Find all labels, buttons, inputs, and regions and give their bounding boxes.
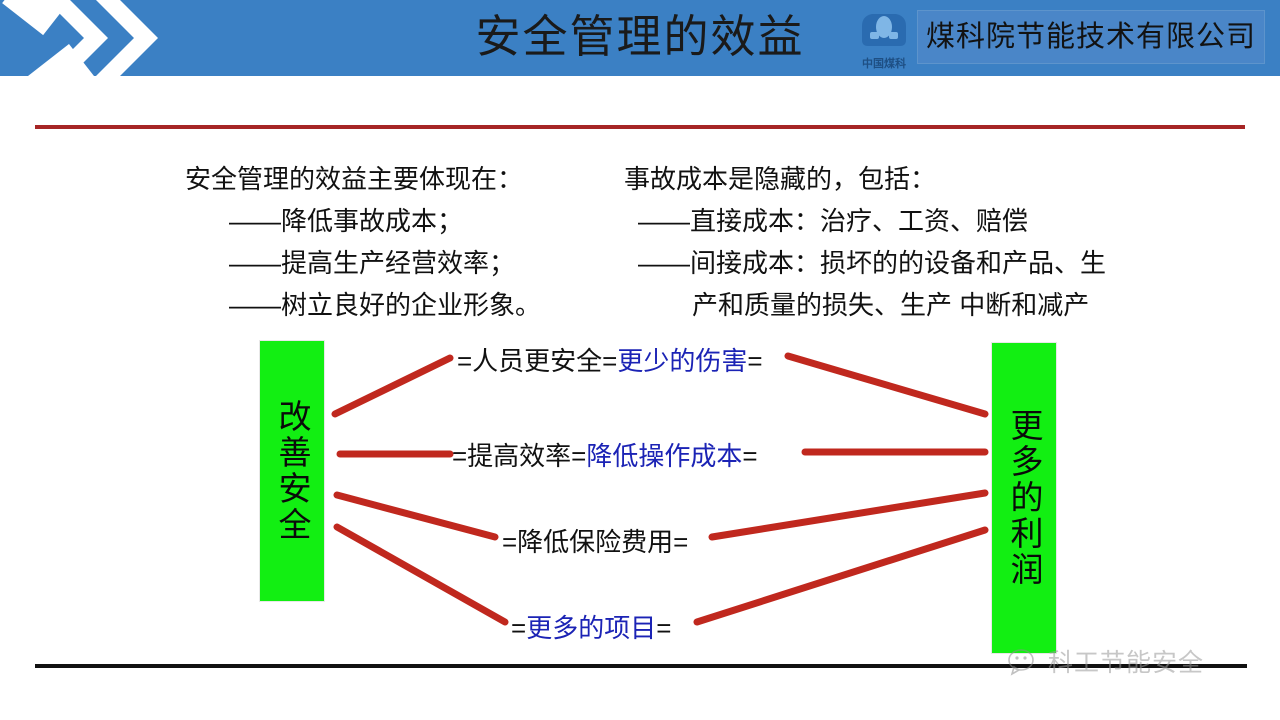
slide-header: 安全管理的效益 中国煤科 煤科院节能技术有限公司 xyxy=(0,0,1280,76)
slide-canvas: 安全管理的效益 中国煤科 煤科院节能技术有限公司 安全管理的效益主要体现在： —… xyxy=(0,0,1280,720)
company-name-text: 煤科院节能技术有限公司 xyxy=(926,20,1256,54)
china-coal-emblem-icon xyxy=(858,10,910,50)
connector-left-1 xyxy=(335,358,450,414)
left-text-column: 安全管理的效益主要体现在： ——降低事故成本； ——提高生产经营效率； ——树立… xyxy=(185,158,541,326)
connector-left-3 xyxy=(337,495,495,537)
diagram-row-label-2: =提高效率=降低操作成本= xyxy=(452,440,758,472)
double-chevron-right-icon-second xyxy=(86,0,172,76)
row2-prefix: =提高效率= xyxy=(452,441,586,471)
right-text-column: 事故成本是隐藏的，包括： ——直接成本：治疗、工资、赔偿 ——间接成本：损坏的的… xyxy=(624,158,1106,326)
row4-prefix: = xyxy=(511,613,526,643)
row4-highlight: 更多的项目 xyxy=(526,613,656,643)
row2-highlight: 降低操作成本 xyxy=(586,441,742,471)
diagram-row-label-4: =更多的项目= xyxy=(511,612,671,644)
watermark: 科工节能安全 xyxy=(1008,648,1204,678)
top-divider xyxy=(35,125,1245,129)
page-title: 安全管理的效益 xyxy=(430,5,850,69)
company-name-box: 煤科院节能技术有限公司 xyxy=(917,10,1265,64)
connector-right-3 xyxy=(712,493,985,537)
wechat-icon xyxy=(1008,648,1042,678)
left-heading: 安全管理的效益主要体现在： xyxy=(185,158,541,200)
row4-suffix: = xyxy=(656,613,671,643)
right-bullet-1: ——直接成本：治疗、工资、赔偿 xyxy=(624,200,1106,242)
connector-right-1 xyxy=(788,356,985,414)
benefit-flow-diagram: 改善安全 更多的利润 xyxy=(0,330,1280,660)
left-outcome-box: 改善安全 xyxy=(259,340,325,602)
diagram-row-label-3: =降低保险费用= xyxy=(502,526,688,558)
brand-logo: 中国煤科 xyxy=(848,10,920,72)
row1-highlight: 更少的伤害 xyxy=(617,346,747,376)
right-bullet-2-continuation: 产和质量的损失、生产 中断和减产 xyxy=(624,284,1106,326)
connector-lines xyxy=(0,330,1280,660)
diagram-row-label-1: =人员更安全=更少的伤害= xyxy=(457,345,763,377)
connector-left-4 xyxy=(337,527,505,622)
left-bullet-3: ——树立良好的企业形象。 xyxy=(185,284,541,326)
left-bullet-1: ——降低事故成本； xyxy=(185,200,541,242)
watermark-text: 科工节能安全 xyxy=(1048,648,1204,678)
row1-suffix: = xyxy=(747,346,762,376)
brand-logo-text: 中国煤科 xyxy=(848,58,920,71)
row1-prefix: =人员更安全= xyxy=(457,346,617,376)
connector-right-4 xyxy=(697,530,985,622)
row3-prefix: =降低保险费用= xyxy=(502,527,688,557)
left-bullet-2: ——提高生产经营效率； xyxy=(185,242,541,284)
right-heading: 事故成本是隐藏的，包括： xyxy=(624,158,1106,200)
right-outcome-box: 更多的利润 xyxy=(991,342,1057,654)
right-bullet-2: ——间接成本：损坏的的设备和产品、生 xyxy=(624,242,1106,284)
row2-suffix: = xyxy=(742,441,757,471)
